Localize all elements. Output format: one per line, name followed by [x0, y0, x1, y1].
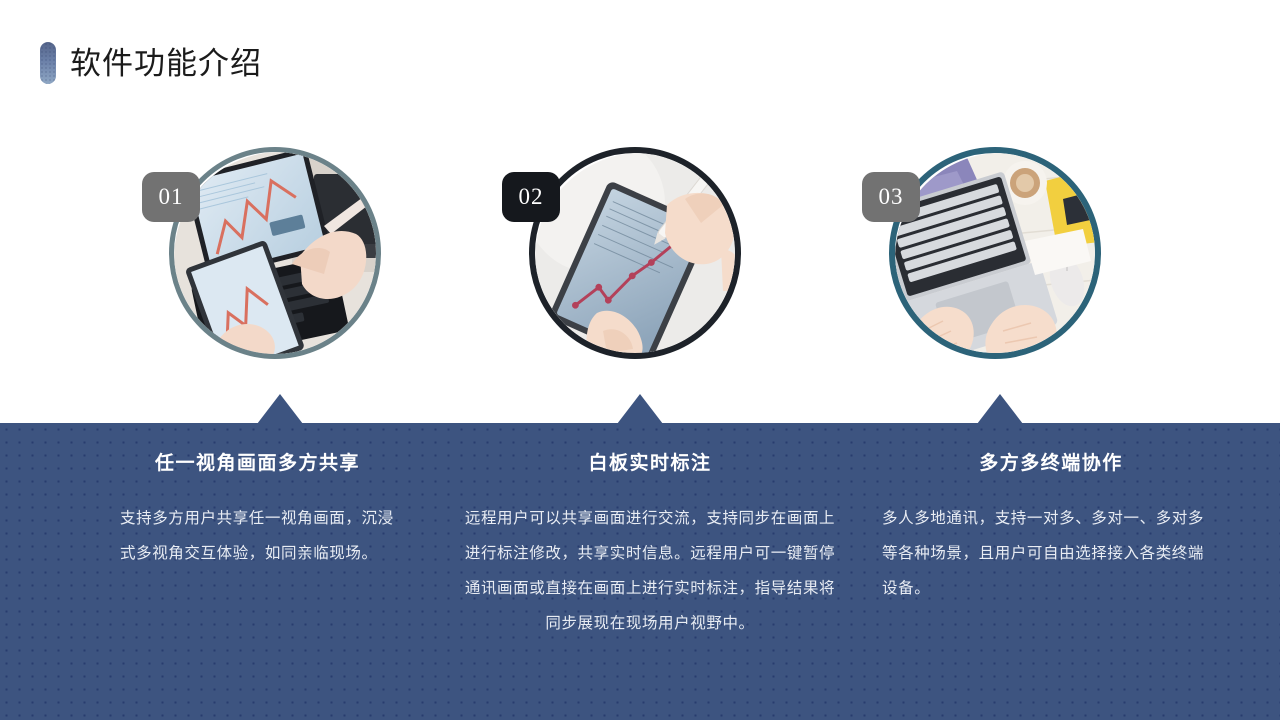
feature-circle-03[interactable]: 03 [889, 147, 1101, 359]
description-columns: 任一视角画面多方共享 支持多方用户共享任一视角画面，沉浸式多视角交互体验，如同亲… [0, 423, 1280, 720]
column-body-01: 支持多方用户共享任一视角画面，沉浸式多视角交互体验，如同亲临现场。 [120, 502, 395, 572]
badge-number-03: 03 [862, 172, 920, 222]
feature-image-row: 01 [0, 0, 1280, 420]
typing-laptop-photo-icon [895, 153, 1095, 353]
badge-number-02: 02 [502, 172, 560, 222]
feature-circle-02[interactable]: 02 [529, 147, 741, 359]
tablet-stylus-photo-icon [535, 153, 735, 353]
photo-frame-02 [529, 147, 741, 359]
panel-pointer-03 [977, 394, 1023, 424]
column-heading-01: 任一视角画面多方共享 [120, 448, 395, 475]
description-column-02: 白板实时标注 远程用户可以共享画面进行交流，支持同步在画面上进行标注修改，共享实… [440, 423, 860, 720]
column-heading-03: 多方多终端协作 [882, 448, 1220, 475]
description-column-01: 任一视角画面多方共享 支持多方用户共享任一视角画面，沉浸式多视角交互体验，如同亲… [0, 423, 440, 720]
photo-frame-03 [889, 147, 1101, 359]
feature-circle-01[interactable]: 01 [169, 147, 381, 359]
column-heading-02: 白板实时标注 [460, 448, 840, 475]
photo-01 [174, 152, 376, 354]
badge-number-01: 01 [142, 172, 200, 222]
photo-frame-01 [169, 147, 381, 359]
column-body-02: 远程用户可以共享画面进行交流，支持同步在画面上进行标注修改，共享实时信息。远程用… [460, 502, 840, 642]
description-column-03: 多方多终端协作 多人多地通讯，支持一对多、多对一、多对多等各种场景，且用户可自由… [860, 423, 1280, 720]
panel-pointer-01 [257, 394, 303, 424]
panel-pointer-02 [617, 394, 663, 424]
column-body-03: 多人多地通讯，支持一对多、多对一、多对多等各种场景，且用户可自由选择接入各类终端… [882, 502, 1220, 607]
laptop-chart-photo-icon [174, 152, 376, 354]
photo-02 [535, 153, 735, 353]
photo-03 [895, 153, 1095, 353]
